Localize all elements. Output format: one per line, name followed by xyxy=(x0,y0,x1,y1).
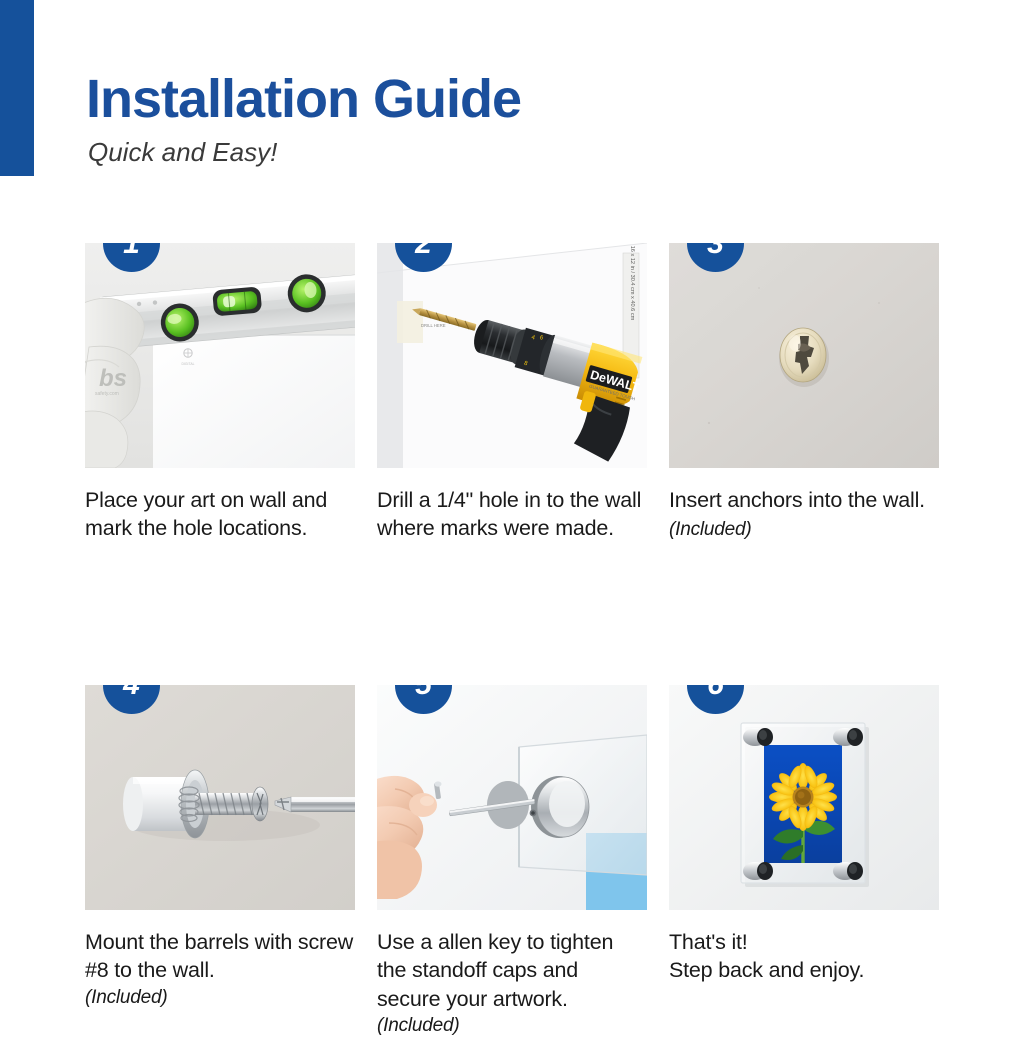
step-caption-text-3: Insert anchors into the wall. xyxy=(669,488,925,512)
wall-anchor-photo: 3 xyxy=(669,243,939,468)
steps-grid: DIGITAL xyxy=(85,243,939,1038)
step-caption-4: Mount the barrels with screw #8 to the w… xyxy=(85,928,355,1010)
allen-key-tighten-photo: 5 xyxy=(377,685,647,910)
allen-key-illustration xyxy=(377,685,647,910)
step-card-1: DIGITAL xyxy=(85,243,355,543)
page-title: Installation Guide xyxy=(86,72,786,127)
standoff-top-left xyxy=(743,728,773,746)
step-card-3: 3 Insert anchors into the wall. (Include… xyxy=(669,243,939,543)
dewalt-drill-photo: 16 x 12 in / 30.4 cm x 40.6 cm DRILL HER… xyxy=(377,243,647,468)
dewalt-drill-illustration: 16 x 12 in / 30.4 cm x 40.6 cm DRILL HER… xyxy=(377,243,647,468)
step-note-4: (Included) xyxy=(85,985,355,1010)
svg-text:safety.com: safety.com xyxy=(95,391,119,397)
step-note-3: (Included) xyxy=(669,519,752,540)
standoff-bottom-left xyxy=(743,862,773,880)
svg-text:DIGITAL: DIGITAL xyxy=(182,362,195,366)
step-caption-3: Insert anchors into the wall. (Included) xyxy=(669,486,939,543)
step-caption-text-5: Use a allen key to tighten the standoff … xyxy=(377,930,613,1011)
step-caption-text-2: Drill a 1/4" hole in to the wall where m… xyxy=(377,488,641,540)
step-card-4: 4 Mount the barrels with screw #8 to the… xyxy=(85,685,355,1038)
step-note-5: (Included) xyxy=(377,1013,647,1038)
step-card-2: 16 x 12 in / 30.4 cm x 40.6 cm DRILL HER… xyxy=(377,243,647,543)
svg-text:bs: bs xyxy=(99,365,127,392)
barrel-screw-illustration xyxy=(85,685,355,910)
header: Installation Guide Quick and Easy! xyxy=(86,72,786,168)
step-card-6: 6 That's it! Step back and enjoy. xyxy=(669,685,939,1038)
spirit-level-illustration: DIGITAL xyxy=(85,243,355,468)
svg-text:16 x 12 in / 30.4 cm x 40.6 cm: 16 x 12 in / 30.4 cm x 40.6 cm xyxy=(629,246,635,321)
step-caption-text-1: Place your art on wall and mark the hole… xyxy=(85,488,327,540)
step-caption-text-6: That's it! Step back and enjoy. xyxy=(669,930,864,982)
finished-frame-illustration xyxy=(669,685,939,910)
standoff-bottom-right xyxy=(833,862,863,880)
standoff-top-right xyxy=(833,728,863,746)
page-subtitle: Quick and Easy! xyxy=(88,137,786,168)
step-caption-text-4: Mount the barrels with screw #8 to the w… xyxy=(85,930,353,982)
step-caption-5: Use a allen key to tighten the standoff … xyxy=(377,928,647,1038)
step-caption-6: That's it! Step back and enjoy. xyxy=(669,928,939,985)
step-caption-2: Drill a 1/4" hole in to the wall where m… xyxy=(377,486,647,543)
finished-sunflower-frame-photo: 6 xyxy=(669,685,939,910)
wall-anchor-illustration xyxy=(669,243,939,468)
svg-text:DRILL HERE: DRILL HERE xyxy=(421,323,446,328)
spirit-level-on-wall-photo: DIGITAL xyxy=(85,243,355,468)
step-caption-1: Place your art on wall and mark the hole… xyxy=(85,486,355,543)
header-accent-bar xyxy=(0,0,34,176)
step-card-5: 5 Use a allen key to tighten the standof… xyxy=(377,685,647,1038)
barrel-screw-screwdriver-photo: 4 xyxy=(85,685,355,910)
